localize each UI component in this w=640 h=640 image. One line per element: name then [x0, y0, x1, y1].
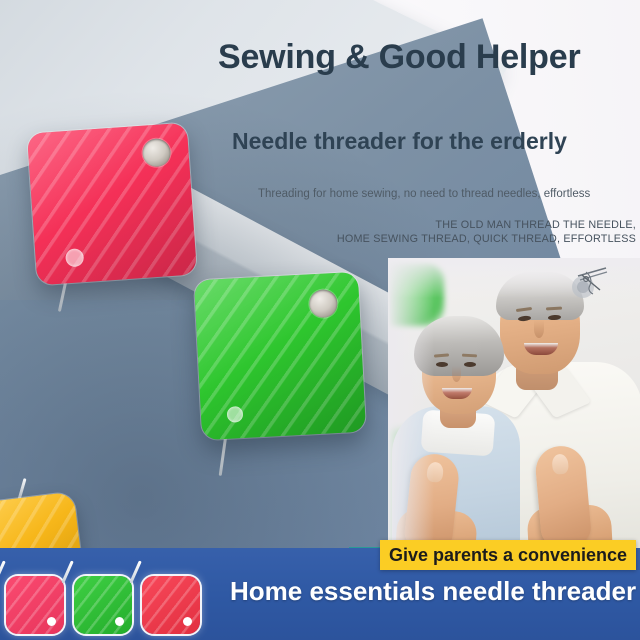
caps-line-2: HOME SEWING THREAD, QUICK THREAD, EFFORT… — [310, 232, 636, 246]
promo-banner-text: Give parents a convenience — [389, 545, 627, 566]
woman-eye-left — [436, 362, 448, 367]
bottom-bar-title: Home essentials needle threader — [230, 576, 636, 607]
caps-line-1: THE OLD MAN THREAD THE NEEDLE, — [310, 218, 636, 232]
product-poster: Sewing & Good Helper Needle threader for… — [0, 0, 640, 640]
uppercase-caption: THE OLD MAN THREAD THE NEEDLE, HOME SEWI… — [310, 218, 636, 246]
woman-eye-right — [464, 362, 476, 367]
threader-card-pink — [27, 123, 197, 286]
photo-left-fade — [388, 258, 434, 550]
ridge-texture — [142, 576, 200, 634]
thumbnail-red[interactable] — [142, 576, 200, 634]
promo-banner: Give parents a convenience — [380, 540, 636, 570]
embossed-dot — [183, 617, 192, 626]
needle-wire-icon — [129, 560, 142, 583]
man-thumbs-up — [534, 444, 593, 548]
embossed-dot — [115, 617, 124, 626]
thumbnail-pink[interactable] — [6, 576, 64, 634]
thumbnail-strip — [6, 576, 200, 634]
ridge-texture — [6, 576, 64, 634]
gloss-highlight — [194, 272, 366, 440]
embossed-dot — [47, 617, 56, 626]
page-subtitle: Needle threader for the erderly — [232, 128, 632, 155]
needle-wire-icon — [61, 560, 74, 583]
thumbnail-nail — [551, 453, 569, 474]
threader-card-green — [194, 272, 366, 440]
thumbnail-green[interactable] — [74, 576, 132, 634]
woman-nose — [452, 366, 461, 382]
page-title: Sewing & Good Helper — [218, 38, 630, 77]
man-nose — [534, 320, 544, 338]
ridge-texture — [74, 576, 132, 634]
gloss-highlight — [27, 123, 197, 286]
needle-and-thread-icon — [566, 266, 612, 306]
description-text: Threading for home sewing, no need to th… — [258, 188, 636, 200]
needle-wire-icon — [0, 560, 6, 583]
